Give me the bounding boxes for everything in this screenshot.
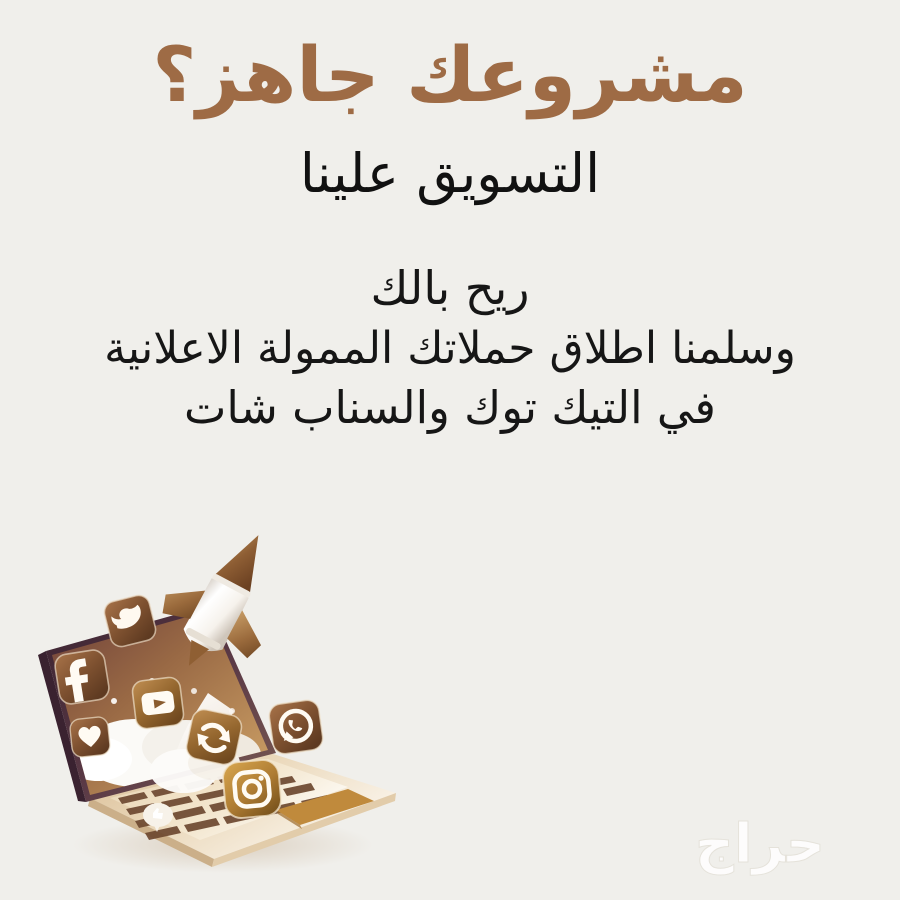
facebook-icon (53, 648, 110, 705)
instagram-icon (222, 759, 283, 820)
body-line-1: ريح بالك (0, 258, 900, 319)
laptop-rocket-illustration (18, 515, 418, 890)
page-title: مشروعك جاهز؟ (0, 0, 900, 120)
poster-canvas: مشروعك جاهز؟ التسويق علينا ريح بالك وسلم… (0, 0, 900, 900)
subheadline: التسويق علينا (0, 120, 900, 207)
body-line-2: وسلمنا اطلاق حملاتك الممولة الاعلانية (0, 320, 900, 379)
whatsapp-icon (268, 699, 324, 755)
body-line-3: في التيك توك والسناب شات (0, 378, 900, 438)
share-icon (184, 707, 243, 766)
watermark-text: حراج (695, 812, 825, 875)
text-block: مشروعك جاهز؟ التسويق علينا ريح بالك وسلم… (0, 0, 900, 438)
heart-icon (69, 716, 111, 758)
body-copy: ريح بالك وسلمنا اطلاق حملاتك الممولة الا… (0, 206, 900, 438)
haraj-watermark: حراج (640, 804, 880, 886)
youtube-icon (131, 676, 184, 729)
